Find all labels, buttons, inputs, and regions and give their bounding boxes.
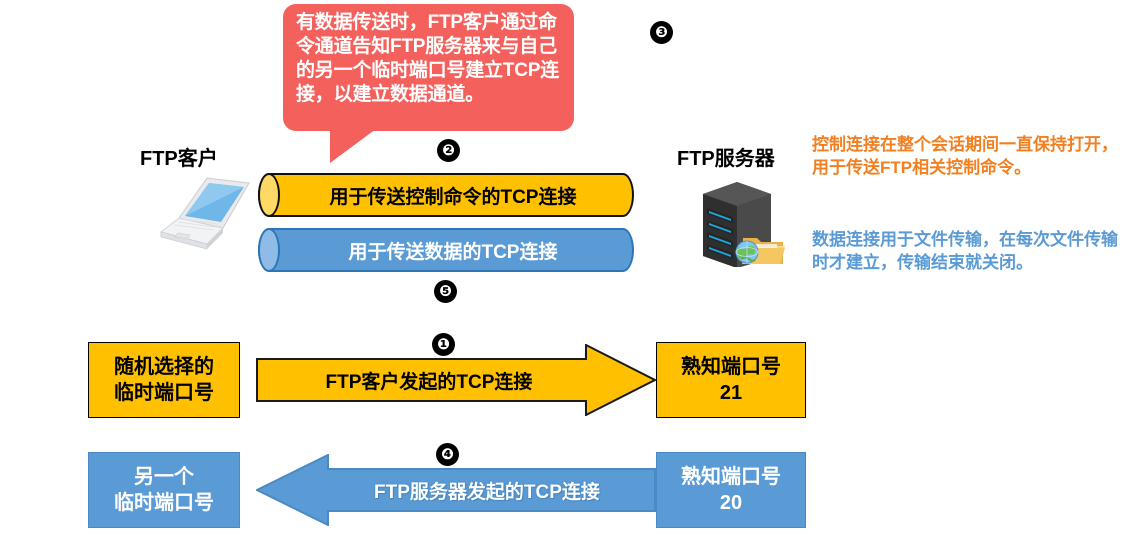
client-second-ephemeral-port-box: 另一个 临时端口号: [88, 452, 240, 528]
marker-4: ❹: [436, 443, 459, 466]
control-connection-arrow: FTP客户发起的TCP连接: [256, 344, 656, 416]
callout-bubble: 有数据传送时，FTP客户通过命令通道告知FTP服务器来与自己的另一个临时端口号建…: [283, 4, 574, 131]
server-wellknown-port-20-box: 熟知端口号 20: [656, 452, 806, 528]
server-wellknown-port-21-box: 熟知端口号 21: [656, 342, 806, 418]
control-channel-cylinder: 用于传送控制命令的TCP连接: [258, 173, 634, 217]
control-channel-label: 用于传送控制命令的TCP连接: [258, 173, 634, 217]
client-ephemeral-port-box: 随机选择的 临时端口号: [88, 342, 240, 418]
data-connection-arrow: FTP服务器发起的TCP连接: [256, 454, 656, 526]
data-note: 数据连接用于文件传输，在每次文件传输时才建立，传输结束就关闭。: [812, 228, 1130, 274]
marker-5: ❺: [434, 280, 457, 303]
callout-text: 有数据传送时，FTP客户通过命令通道告知FTP服务器来与自己的另一个临时端口号建…: [296, 11, 565, 107]
client-label: FTP客户: [140, 142, 218, 171]
marker-1: ❶: [432, 333, 455, 356]
callout-tail-icon: [330, 129, 422, 163]
marker-3: ❸: [650, 21, 673, 44]
data-channel-label: 用于传送数据的TCP连接: [258, 228, 634, 272]
data-channel-cylinder: 用于传送数据的TCP连接: [258, 228, 634, 272]
server-label: FTP服务器: [677, 142, 775, 171]
control-note: 控制连接在整个会话期间一直保持打开，用于传送FTP相关控制命令。: [812, 133, 1130, 179]
marker-2: ❷: [437, 139, 460, 162]
ftp-connection-diagram: 有数据传送时，FTP客户通过命令通道告知FTP服务器来与自己的另一个临时端口号建…: [0, 0, 1137, 535]
laptop-icon: [145, 170, 255, 255]
server-tower-icon: [685, 172, 795, 267]
